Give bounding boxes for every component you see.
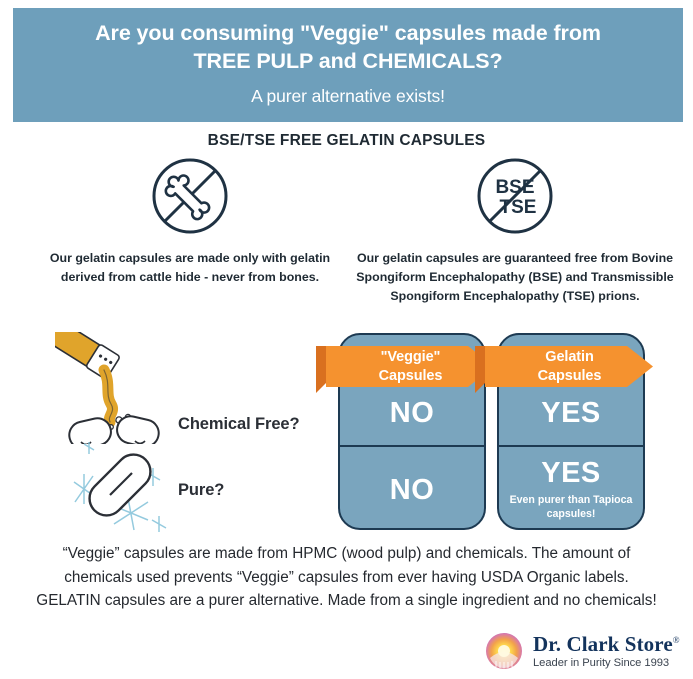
logo-tagline: Leader in Purity Since 1993 [533, 657, 680, 669]
header-banner: Are you consuming "Veggie" capsules made… [13, 8, 683, 122]
registered-trademark-icon: ® [673, 635, 680, 645]
badge-no-bse-tse: BSE TSE Our gelatin capsules are guarant… [355, 155, 675, 306]
ribbon-banner-veggie: "Veggie" Capsules [316, 340, 494, 393]
badge-no-bse-tse-caption: Our gelatin capsules are guaranteed free… [355, 249, 675, 306]
header-title-line-1: Are you consuming "Veggie" capsules made… [95, 19, 601, 47]
logo-brand-name: Dr. Clark Store® [533, 633, 680, 655]
question-label-pure: Pure? [178, 481, 224, 500]
comparison-answer-note: Even purer than Tapioca capsules! [499, 494, 643, 522]
badge-no-bone: Our gelatin capsules are made only with … [40, 155, 340, 287]
comparison-column-veggie: NO NO "Veggie" Capsules [338, 333, 486, 530]
question-label-chemical-free: Chemical Free? [178, 415, 299, 434]
ribbon-label-veggie: "Veggie" Capsules [338, 340, 483, 393]
comparison-cell-gelatin-pure: YES Even purer than Tapioca capsules! [499, 445, 643, 530]
ribbon-label-gelatin: Gelatin Capsules [497, 340, 642, 393]
ribbon-line-1: Gelatin [545, 348, 593, 367]
comparison-answer: YES [541, 399, 601, 428]
section-title: BSE/TSE FREE GELATIN CAPSULES [0, 132, 693, 150]
brand-logo: Dr. Clark Store® Leader in Purity Since … [484, 631, 680, 671]
header-subtitle: A purer alternative exists! [251, 86, 445, 107]
test-tube-pouring-chemicals-on-capsules-icon [55, 332, 173, 449]
comparison-answer: NO [390, 399, 435, 428]
comparison-cell-veggie-pure: NO [340, 445, 484, 530]
no-bone-icon [40, 155, 340, 237]
footer-paragraph: “Veggie” capsules are made from HPMC (wo… [36, 542, 657, 613]
comparison-answer: YES [541, 459, 601, 488]
dr-clark-store-sun-emblem-icon [484, 631, 524, 671]
ribbon-line-1: "Veggie" [381, 348, 441, 367]
no-bse-tse-icon: BSE TSE [355, 155, 675, 237]
comparison-answer: NO [390, 476, 435, 505]
ribbon-line-2: Capsules [538, 367, 602, 386]
logo-wordmark: Dr. Clark Store® Leader in Purity Since … [533, 633, 680, 669]
comparison-column-gelatin: YES YES Even purer than Tapioca capsules… [497, 333, 645, 530]
logo-brand-name-text: Dr. Clark Store [533, 632, 673, 656]
sparkling-pure-capsule-icon [62, 440, 174, 543]
badge-no-bone-caption: Our gelatin capsules are made only with … [40, 249, 340, 287]
header-title-line-2: TREE PULP and CHEMICALS? [194, 47, 503, 75]
infographic-root: Are you consuming "Veggie" capsules made… [0, 0, 693, 679]
ribbon-banner-gelatin: Gelatin Capsules [475, 340, 653, 393]
ribbon-line-2: Capsules [379, 367, 443, 386]
